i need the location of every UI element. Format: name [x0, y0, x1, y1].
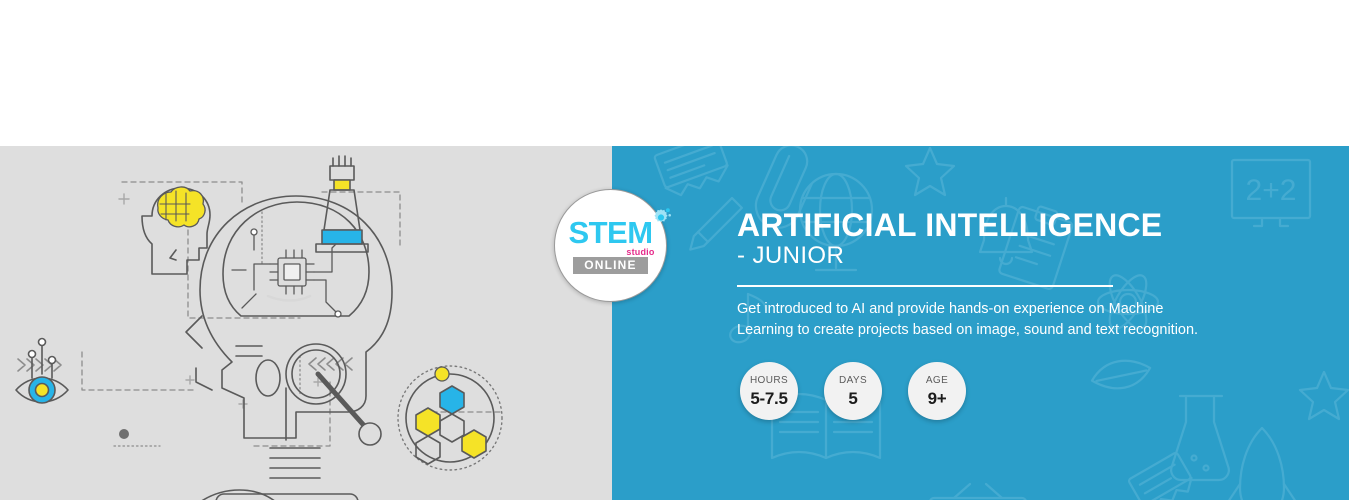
stat-badge-hours: HOURS 5-7.5: [740, 362, 798, 420]
title-divider: [737, 285, 1113, 287]
course-title: ARTIFICIAL INTELLIGENCE: [737, 208, 1162, 243]
illustration-panel: MACHINE LEARNING: [0, 146, 612, 500]
course-subtitle: - JUNIOR: [737, 243, 844, 269]
course-description: Get introduced to AI and provide hands-o…: [737, 299, 1252, 340]
gear-icon: [650, 207, 672, 229]
logo-online-tag: ONLINE: [573, 257, 648, 274]
stat-label: HOURS: [750, 376, 788, 386]
course-stats: HOURS 5-7.5 DAYS 5 AGE 9+: [740, 362, 966, 420]
stat-badge-age: AGE 9+: [908, 362, 966, 420]
logo-stem-text: STEM: [568, 217, 652, 248]
stat-label: DAYS: [839, 376, 867, 386]
course-banner: MACHINE LEARNING: [0, 0, 1349, 500]
stat-value: 5-7.5: [750, 390, 787, 407]
logo-wordmark-row: STEM studio: [568, 217, 652, 248]
stat-value: 9+: [928, 390, 947, 407]
blackboard-text: 2+2: [1246, 174, 1297, 207]
stat-badge-days: DAYS 5: [824, 362, 882, 420]
stat-value: 5: [848, 390, 857, 407]
logo-studio-text: studio: [626, 247, 654, 257]
stem-studio-online-logo[interactable]: STEM studio ONLINE: [554, 189, 667, 302]
stat-label: AGE: [926, 376, 948, 386]
ai-illustration: [0, 146, 612, 500]
